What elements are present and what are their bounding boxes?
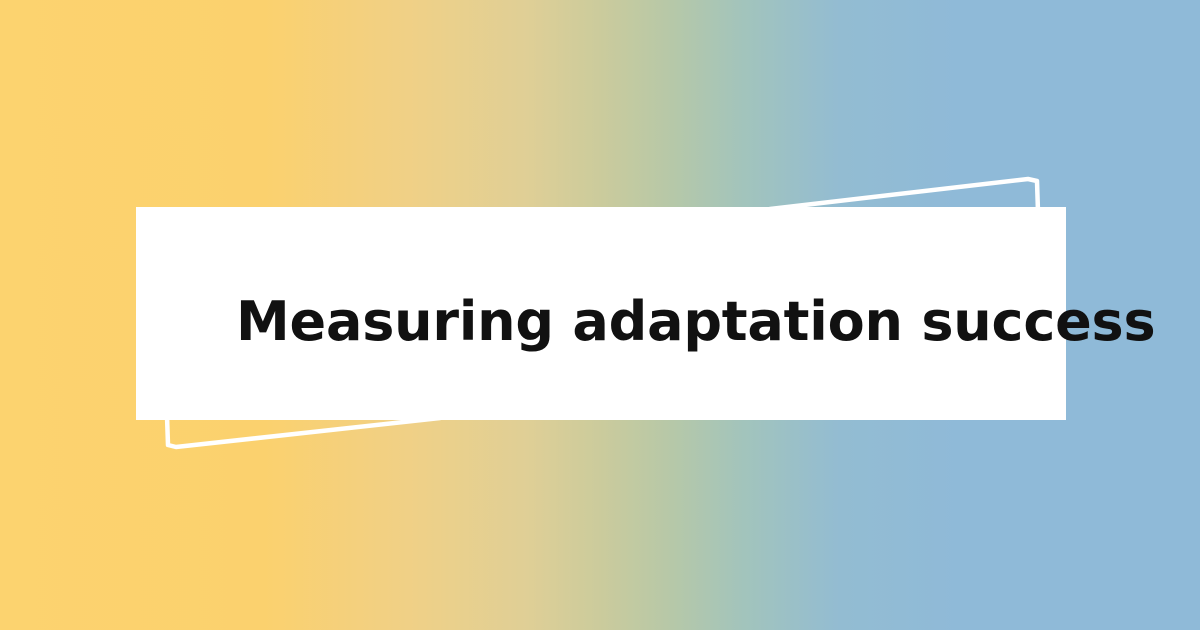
page-title: Measuring adaptation success [236, 295, 1155, 349]
slide-canvas: Measuring adaptation success [0, 0, 1200, 630]
bottom-left-outline-shape [167, 416, 440, 447]
title-card: Measuring adaptation success [136, 207, 1066, 420]
